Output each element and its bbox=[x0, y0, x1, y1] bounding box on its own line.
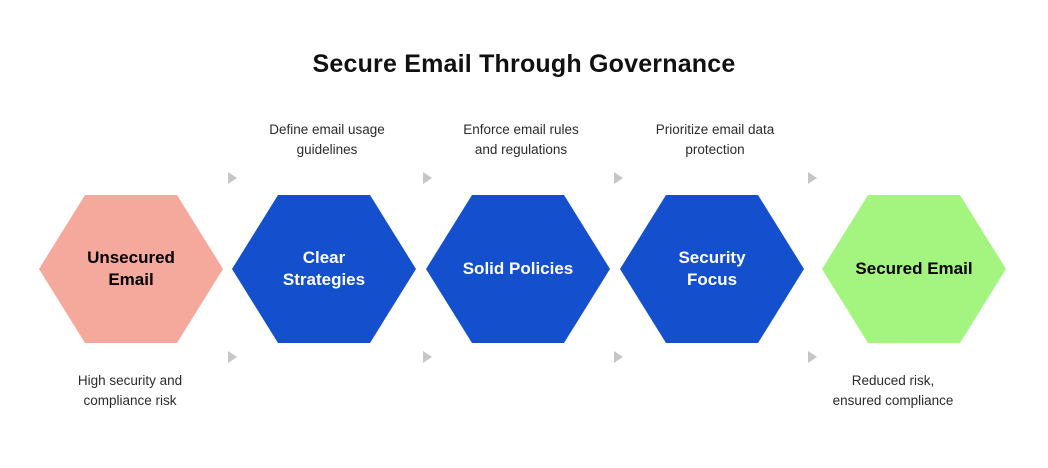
node-solid-policies[interactable]: Solid Policies bbox=[426, 195, 610, 343]
node-label: Security Focus bbox=[678, 247, 745, 292]
caption-line: Reduced risk, bbox=[798, 371, 988, 391]
caption-line: ensured compliance bbox=[798, 391, 988, 411]
triangle-right-icon bbox=[228, 172, 237, 184]
node-label-line: Strategies bbox=[283, 269, 365, 291]
triangle-right-icon bbox=[614, 351, 623, 363]
caption-solid-policies: Enforce email rules and regulations bbox=[426, 120, 616, 159]
caption-secured-email: Reduced risk, ensured compliance bbox=[798, 371, 988, 410]
caption-line: Prioritize email data bbox=[620, 120, 810, 140]
node-label-line: Secured Email bbox=[855, 258, 972, 280]
caption-security-focus: Prioritize email data protection bbox=[620, 120, 810, 159]
triangle-right-icon bbox=[423, 172, 432, 184]
node-secured-email[interactable]: Secured Email bbox=[822, 195, 1006, 343]
caption-line: compliance risk bbox=[35, 391, 225, 411]
triangle-right-icon bbox=[423, 351, 432, 363]
node-label-line: Email bbox=[87, 269, 175, 291]
caption-unsecured-email: High security and compliance risk bbox=[35, 371, 225, 410]
caption-clear-strategies: Define email usage guidelines bbox=[232, 120, 422, 159]
caption-line: Define email usage bbox=[232, 120, 422, 140]
node-label: Secured Email bbox=[855, 258, 972, 280]
caption-line: and regulations bbox=[426, 140, 616, 160]
triangle-right-icon bbox=[228, 351, 237, 363]
triangle-right-icon bbox=[808, 351, 817, 363]
node-label: Unsecured Email bbox=[87, 247, 175, 292]
caption-line: guidelines bbox=[232, 140, 422, 160]
node-label: Clear Strategies bbox=[283, 247, 365, 292]
node-label-line: Clear bbox=[283, 247, 365, 269]
node-label-line: Unsecured bbox=[87, 247, 175, 269]
node-label-line: Solid Policies bbox=[463, 258, 574, 280]
triangle-right-icon bbox=[808, 172, 817, 184]
caption-line: Enforce email rules bbox=[426, 120, 616, 140]
process-flow-diagram: Secure Email Through Governance Define e… bbox=[0, 0, 1048, 468]
node-label-line: Security bbox=[678, 247, 745, 269]
node-label: Solid Policies bbox=[463, 258, 574, 280]
node-security-focus[interactable]: Security Focus bbox=[620, 195, 804, 343]
node-label-line: Focus bbox=[678, 269, 745, 291]
caption-line: High security and bbox=[35, 371, 225, 391]
caption-line: protection bbox=[620, 140, 810, 160]
node-clear-strategies[interactable]: Clear Strategies bbox=[232, 195, 416, 343]
triangle-right-icon bbox=[614, 172, 623, 184]
node-unsecured-email[interactable]: Unsecured Email bbox=[39, 195, 223, 343]
page-title: Secure Email Through Governance bbox=[0, 50, 1048, 79]
